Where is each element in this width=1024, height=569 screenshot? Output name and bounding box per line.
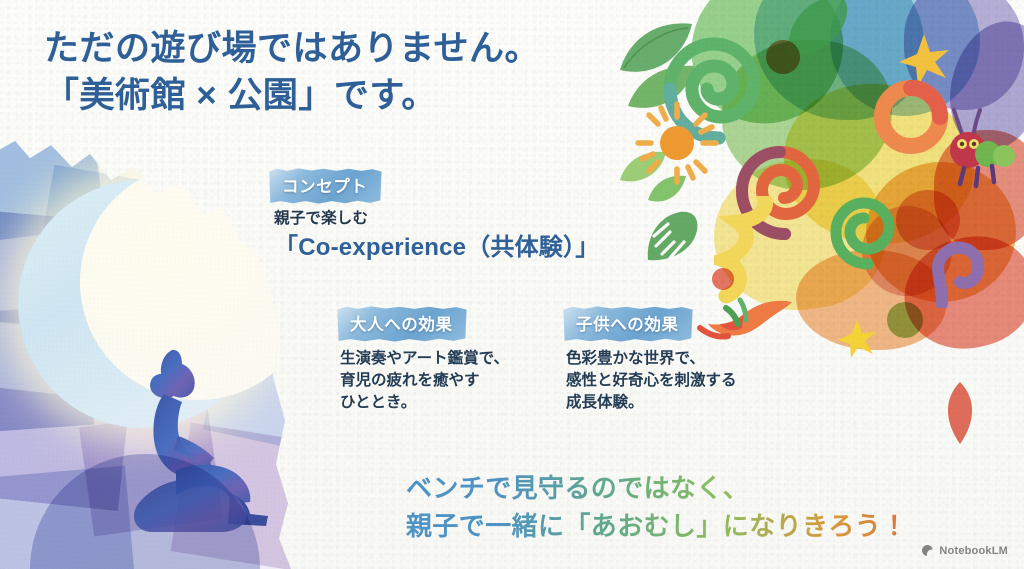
adult-effect-text-block: 生演奏やアート鑑賞で、 育児の疲れを癒やす ひととき。 [340, 348, 509, 414]
child-effect-text-block: 色彩豊かな世界で、 感性と好奇心を刺激する 成長体験。 [566, 348, 737, 414]
notebooklm-label: NotebookLM [939, 545, 1008, 557]
title-line-2: 「美術館 × 公園」です。 [44, 73, 604, 120]
concept-main-text: 「Co-experience（共体験）」 [274, 231, 599, 265]
adult-effect-line: 育児の疲れを癒やす [340, 370, 509, 392]
hook-icon [928, 238, 988, 308]
child-effect-line: 色彩豊かな世界で、 [566, 348, 737, 370]
child-effect-line: 成長体験。 [566, 392, 737, 414]
circle-dot [766, 40, 800, 74]
star-icon [836, 318, 878, 360]
child-effect-line: 感性と好奇心を刺激する [566, 370, 737, 392]
colorful-collage-artwork [604, 0, 1024, 330]
caterpillar-icon [940, 108, 1020, 194]
child-effect-tag: 子供への効果 [562, 306, 693, 342]
concept-subtext: 親子で楽しむ [274, 208, 599, 230]
circle-dot [887, 302, 923, 338]
notebooklm-logo-icon [921, 544, 934, 557]
leaf-icon [940, 380, 980, 446]
title-line-1: ただの遊び場ではありません。 [44, 26, 604, 73]
concept-text-block: 親子で楽しむ 「Co-experience（共体験）」 [274, 208, 599, 265]
concept-tag: コンセプト [268, 168, 382, 204]
bird-icon [696, 290, 796, 356]
tagline-line-2: 親子で一緒に「あおむし」になりきろう！ [406, 508, 966, 546]
notebooklm-watermark: NotebookLM [921, 544, 1008, 557]
page-title: ただの遊び場ではありません。 「美術館 × 公園」です。 [44, 26, 604, 119]
adult-effect-tag-label: 大人への効果 [336, 306, 467, 342]
tagline-line-1: ベンチで見守るのではなく、 [406, 470, 966, 508]
child-effect-tag-label: 子供への効果 [562, 306, 693, 342]
sun-icon [634, 100, 720, 186]
adult-effect-line: ひととき。 [340, 392, 509, 414]
presentation-slide: ただの遊び場ではありません。 「美術館 × 公園」です。 コンセプト 親子で楽し… [0, 0, 1024, 569]
closing-tagline: ベンチで見守るのではなく、 親子で一緒に「あおむし」になりきろう！ [406, 470, 966, 546]
monstera-leaf-icon [640, 208, 702, 264]
adult-effect-tag: 大人への効果 [336, 306, 467, 342]
concept-tag-label: コンセプト [268, 168, 382, 204]
adult-effect-line: 生演奏やアート鑑賞で、 [340, 348, 509, 370]
circle-dot [712, 268, 734, 290]
crescent-moon-collage-artwork [0, 132, 300, 569]
